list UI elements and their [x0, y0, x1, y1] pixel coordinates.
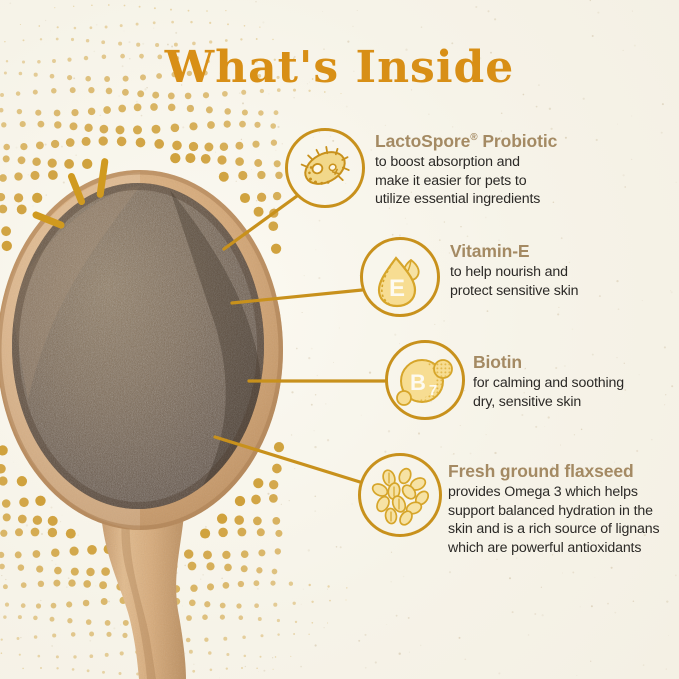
callout-heading: Vitamin-E	[450, 241, 670, 262]
sparkle-dashes	[45, 158, 175, 248]
callout-body: to help nourish and protect sensitive sk…	[450, 263, 670, 301]
probiotic-bacterium-icon	[285, 128, 365, 208]
sparkle-dash	[96, 158, 108, 199]
callout-body: for calming and soothing dry, sensitive …	[473, 374, 679, 412]
callout-text-vitamin-e: Vitamin-E to help nourish and protect se…	[450, 241, 670, 300]
page-title: What's Inside	[0, 42, 679, 93]
biotin-molecule-icon: B 7	[385, 340, 465, 420]
sparkle-dash	[67, 172, 86, 206]
callout-text-flaxseed: Fresh ground flaxseed provides Omega 3 w…	[448, 461, 679, 558]
icon-letter: E	[389, 275, 405, 302]
infographic-canvas: What's Inside	[0, 0, 679, 679]
callout-text-lactospore: LactoSpore® Probiotic to boost absorptio…	[375, 131, 605, 209]
callout-heading: LactoSpore® Probiotic	[375, 131, 605, 152]
callout-body: to boost absorption and make it easier f…	[375, 153, 605, 210]
callout-heading: Fresh ground flaxseed	[448, 461, 679, 482]
icon-subscript: 7	[429, 382, 437, 399]
flaxseed-cluster-icon	[358, 453, 442, 537]
vitamin-e-droplet-icon: E	[360, 237, 440, 317]
callout-body: provides Omega 3 which helps support bal…	[448, 483, 679, 559]
icon-letter: B	[410, 370, 426, 395]
callout-text-biotin: Biotin for calming and soothing dry, sen…	[473, 352, 679, 411]
callout-heading: Biotin	[473, 352, 679, 373]
